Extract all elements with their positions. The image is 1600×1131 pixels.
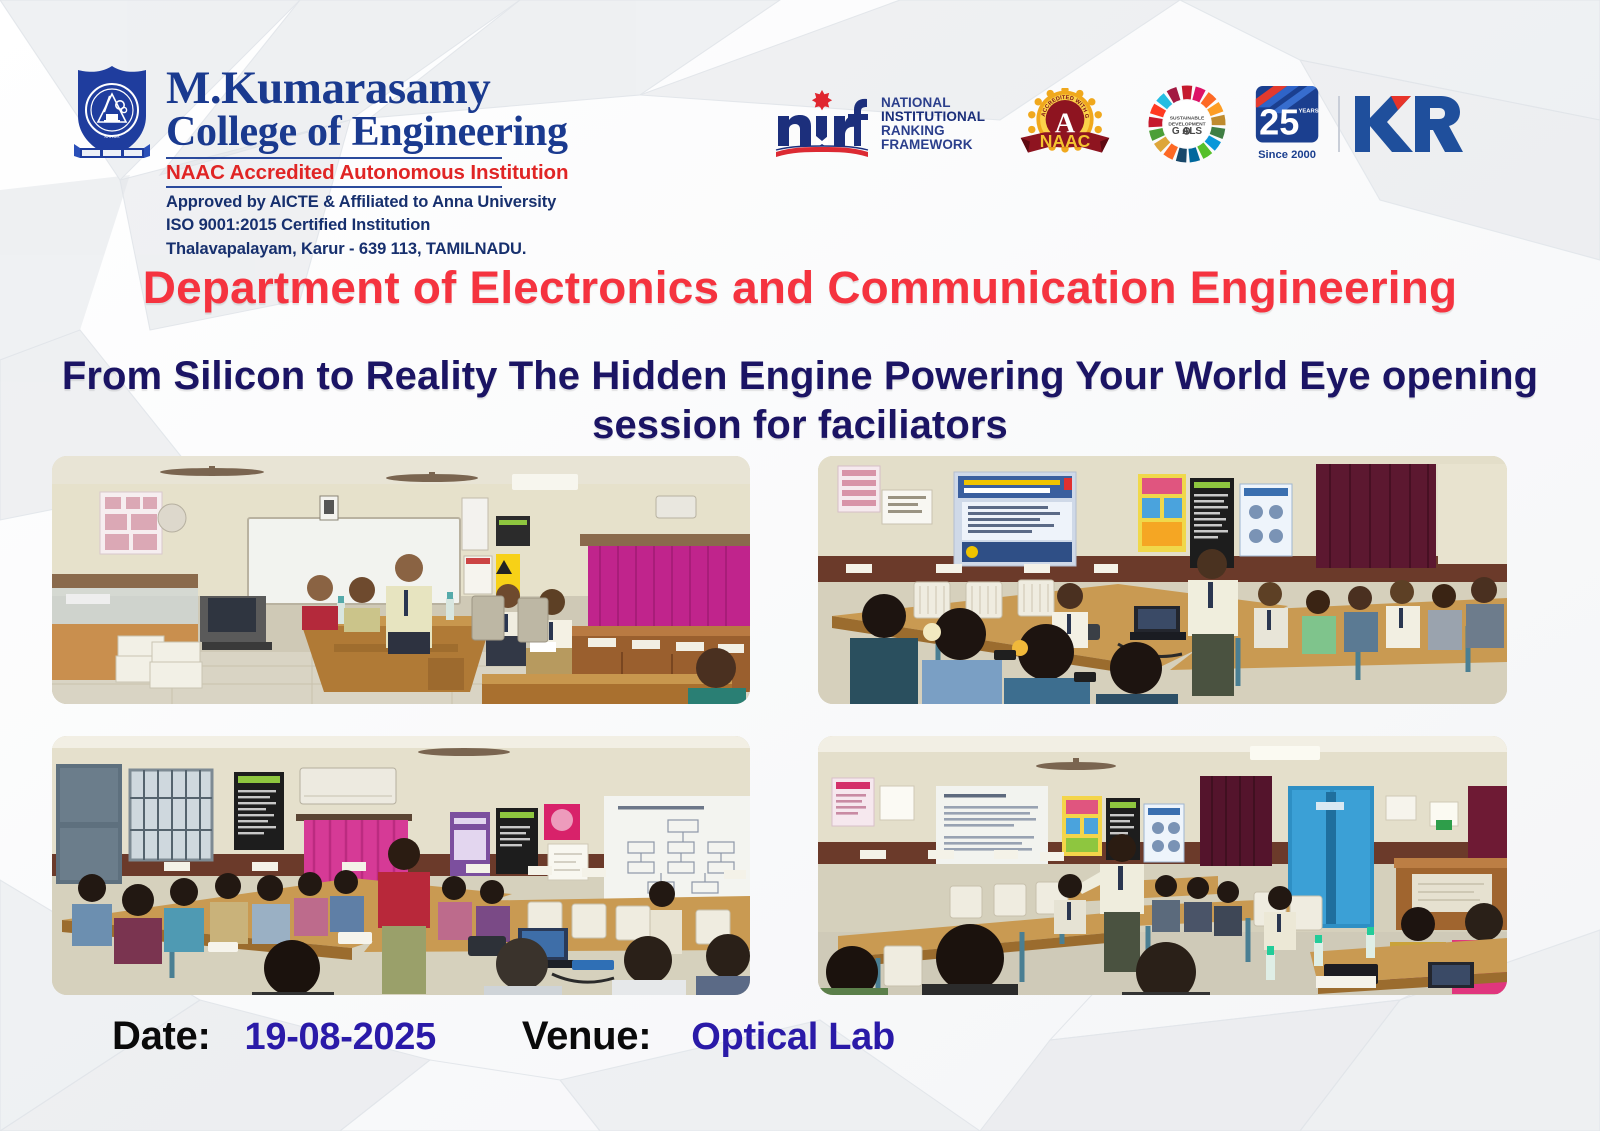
department-title: Department of Electronics and Communicat…: [0, 262, 1600, 314]
naac-ribbon-text: NAAC: [1040, 131, 1091, 151]
event-title: From Silicon to Reality The Hidden Engin…: [46, 352, 1554, 450]
svg-text:KARUR: KARUR: [104, 134, 119, 139]
brand-divider-bottom: [166, 186, 502, 188]
accreditation-logo-strip: NATIONAL INSTITUTIONAL RANKING FRAMEWORK: [770, 76, 1463, 172]
kr-logo: [1351, 92, 1463, 156]
naac-seal-icon: ACCREDITED WITH GRADE A NAAC: [1013, 88, 1117, 160]
event-poster: KARUR M.Kumarasamy College of Engineerin…: [0, 0, 1600, 1131]
date-value: 19-08-2025: [245, 1016, 436, 1059]
institution-branding: KARUR M.Kumarasamy College of Engineerin…: [72, 64, 568, 261]
nirf-mark-icon: [770, 86, 874, 162]
25-years-icon: 25 YEARS Since 2000: [1253, 84, 1327, 164]
photo-wide-hall[interactable]: [818, 736, 1507, 995]
photo-projector-session[interactable]: [818, 456, 1507, 704]
sdg-wheel-icon: SUSTAINABLE DEVELOPMENT G ALS: [1143, 84, 1231, 164]
nirf-wordmark-text: NATIONAL INSTITUTIONAL RANKING FRAMEWORK: [881, 96, 985, 152]
logo-divider: [1338, 96, 1340, 152]
venue-label: Venue:: [522, 1014, 651, 1059]
brand-divider-top: [166, 157, 502, 159]
nirf-line3: RANKING: [881, 124, 985, 138]
photo-gallery: [52, 456, 1507, 995]
poster-header: KARUR M.Kumarasamy College of Engineerin…: [0, 0, 1600, 250]
since-2000-text: Since 2000: [1258, 149, 1316, 161]
poster-footer: Date: 19-08-2025 Venue: Optical Lab: [0, 1014, 1600, 1084]
institution-approval: Approved by AICTE & Affiliated to Anna U…: [166, 191, 568, 214]
photo-speaker-addressing-image: [52, 736, 750, 995]
date-venue-row: Date: 19-08-2025 Venue: Optical Lab: [112, 1014, 895, 1059]
photo-dais-panel-image: [52, 456, 750, 704]
photo-wide-hall-image: [818, 736, 1507, 995]
date-label: Date:: [112, 1014, 211, 1059]
nirf-line1: NATIONAL: [881, 96, 985, 110]
photo-dais-panel[interactable]: [52, 456, 750, 704]
institution-address: Thalavapalayam, Karur - 639 113, TAMILNA…: [166, 238, 568, 261]
25-number: 25: [1259, 102, 1299, 143]
sdg-wheel-logo: SUSTAINABLE DEVELOPMENT G ALS: [1143, 84, 1231, 164]
25-years-word: YEARS: [1299, 108, 1319, 114]
nirf-logo: NATIONAL INSTITUTIONAL RANKING FRAMEWORK: [770, 86, 985, 162]
sdg-line1: SUSTAINABLE: [1170, 115, 1205, 121]
25-years-badge: 25 YEARS Since 2000: [1253, 84, 1327, 164]
kr-wordmark-icon: [1351, 92, 1463, 156]
photo-speaker-addressing[interactable]: [52, 736, 750, 995]
institution-accreditation: NAAC Accredited Autonomous Institution: [166, 160, 568, 186]
photo-projector-session-image: [818, 456, 1507, 704]
venue-value: Optical Lab: [691, 1016, 895, 1059]
naac-seal: ACCREDITED WITH GRADE A NAAC: [1013, 88, 1117, 160]
nirf-line4: FRAMEWORK: [881, 138, 985, 152]
college-crest-icon: KARUR: [72, 64, 152, 162]
institution-name-line1: M.Kumarasamy: [166, 66, 568, 111]
institution-iso: ISO 9001:2015 Certified Institution: [166, 214, 568, 237]
nirf-line2: INSTITUTIONAL: [881, 110, 985, 124]
institution-name-line2: College of Engineering: [166, 111, 568, 155]
